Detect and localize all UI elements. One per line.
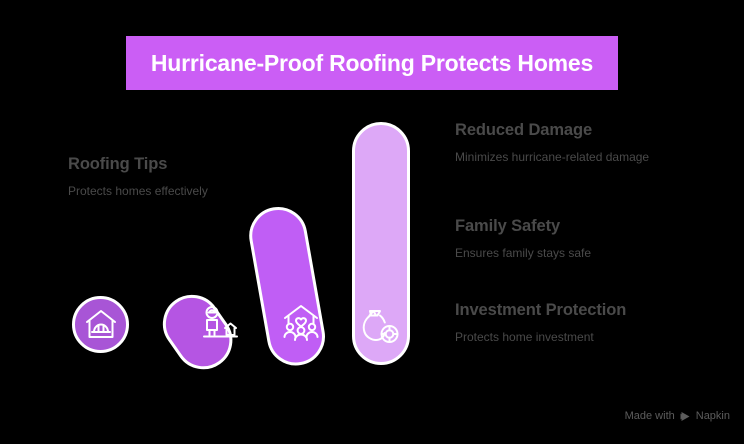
investment-protection-block: Investment Protection Protects home inve… bbox=[455, 301, 685, 345]
bar-investment-protection bbox=[352, 122, 410, 365]
reduced-damage-body: Minimizes hurricane-related damage bbox=[455, 149, 670, 165]
investment-protection-body: Protects home investment bbox=[455, 329, 685, 345]
family-safety-block: Family Safety Ensures family stays safe bbox=[455, 217, 670, 261]
watermark-brand: Napkin bbox=[696, 410, 730, 422]
page-title: Hurricane-Proof Roofing Protects Homes bbox=[151, 50, 593, 77]
reduced-damage-block: Reduced Damage Minimizes hurricane-relat… bbox=[455, 121, 670, 165]
reduced-damage-heading: Reduced Damage bbox=[455, 121, 670, 140]
watermark-prefix: Made with bbox=[625, 410, 675, 422]
title-banner: Hurricane-Proof Roofing Protects Homes bbox=[126, 36, 618, 90]
house-hardhat-icon bbox=[84, 308, 118, 342]
family-home-heart-icon bbox=[281, 303, 321, 343]
play-triangle-icon bbox=[680, 411, 691, 422]
bar-family-safety bbox=[245, 202, 330, 370]
investment-protection-heading: Investment Protection bbox=[455, 301, 685, 320]
worker-house-icon bbox=[199, 303, 239, 343]
roofing-tips-body: Protects homes effectively bbox=[68, 183, 238, 199]
made-with-napkin-watermark[interactable]: Made with Napkin bbox=[625, 410, 730, 422]
money-bag-coin-icon bbox=[361, 308, 401, 348]
family-safety-body: Ensures family stays safe bbox=[455, 245, 670, 261]
roofing-tips-icon-circle bbox=[72, 296, 129, 353]
bar-roofing-tips bbox=[152, 283, 244, 380]
roofing-tips-block: Roofing Tips Protects homes effectively bbox=[68, 155, 238, 199]
roofing-tips-heading: Roofing Tips bbox=[68, 155, 238, 174]
family-safety-heading: Family Safety bbox=[455, 217, 670, 236]
